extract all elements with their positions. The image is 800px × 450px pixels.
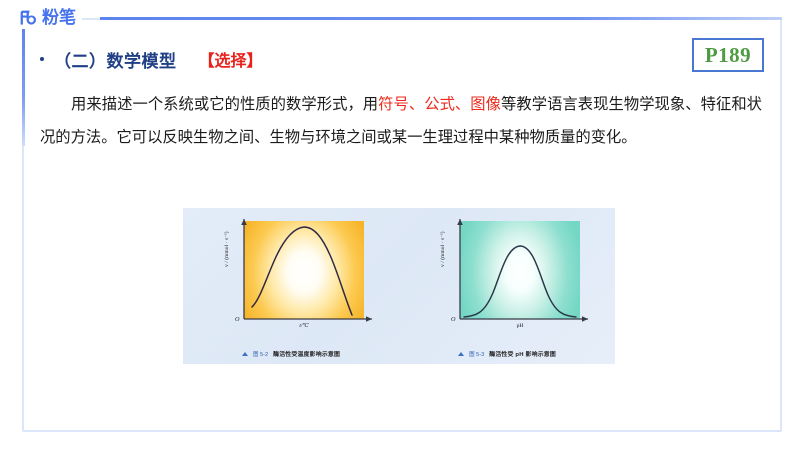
caption-right: 图 5-3 酶活性受 pH 影响示意图 (399, 349, 615, 358)
chart-inner-left: v / (mmol · s⁻¹) O t/℃ (206, 217, 376, 343)
caption-triangle-icon (458, 352, 464, 356)
caption-number-right: 图 5-3 (469, 350, 484, 358)
origin-label-left: O (235, 316, 239, 323)
slide-root: 粉笔 （二）数学模型 【选择】 P189 用来描述一个系统或它的性质的数学形式，… (0, 0, 800, 450)
page-number-badge: P189 (692, 38, 764, 72)
y-axis-label-left: v / (mmol · s⁻¹) (224, 231, 230, 267)
frame-left-accent-line (22, 28, 25, 146)
brand-logo: 粉笔 (18, 8, 82, 29)
x-axis-label-left: t/℃ (244, 323, 364, 329)
caption-text-left: 酶活性受温度影响示意图 (273, 349, 340, 358)
caption-number-left: 图 5-2 (253, 350, 268, 358)
x-axis-label-right: pH (460, 323, 580, 329)
page-number-label: P189 (705, 43, 751, 68)
figure-block: v / (mmol · s⁻¹) O t/℃ 图 5-2 酶活性受温度影响示意图 (183, 208, 615, 364)
body-paragraph: 用来描述一个系统或它的性质的数学形式，用符号、公式、图像等教学语言表现生物学现象… (40, 88, 762, 154)
page-title: （二）数学模型 (54, 47, 177, 72)
paragraph-highlight: 符号、公式、图像 (378, 96, 501, 113)
origin-label-right: O (451, 316, 455, 323)
fenbi-logo-icon (18, 8, 39, 29)
chart-enzyme-temperature: v / (mmol · s⁻¹) O t/℃ 图 5-2 酶活性受温度影响示意图 (183, 208, 399, 364)
brand-name: 粉笔 (42, 8, 76, 29)
paragraph-segment-1: 用来描述一个系统或它的性质的数学形式，用 (71, 96, 378, 113)
bullet-icon (40, 57, 44, 61)
charts-container: v / (mmol · s⁻¹) O t/℃ 图 5-2 酶活性受温度影响示意图 (183, 208, 615, 364)
chart-enzyme-ph: v / (mmol · s⁻¹) O pH 图 5-3 酶活性受 pH 影响示意… (399, 208, 615, 364)
caption-triangle-icon (242, 352, 248, 356)
frame-top-accent-line (100, 17, 782, 20)
heading-tag-badge: 【选择】 (199, 47, 263, 71)
heading-row: （二）数学模型 【选择】 (40, 42, 760, 76)
y-axis-label-right: v / (mmol · s⁻¹) (440, 231, 446, 267)
caption-text-right: 酶活性受 pH 影响示意图 (489, 349, 556, 358)
chart-inner-right: v / (mmol · s⁻¹) O pH (422, 217, 592, 343)
caption-left: 图 5-2 酶活性受温度影响示意图 (183, 349, 399, 358)
